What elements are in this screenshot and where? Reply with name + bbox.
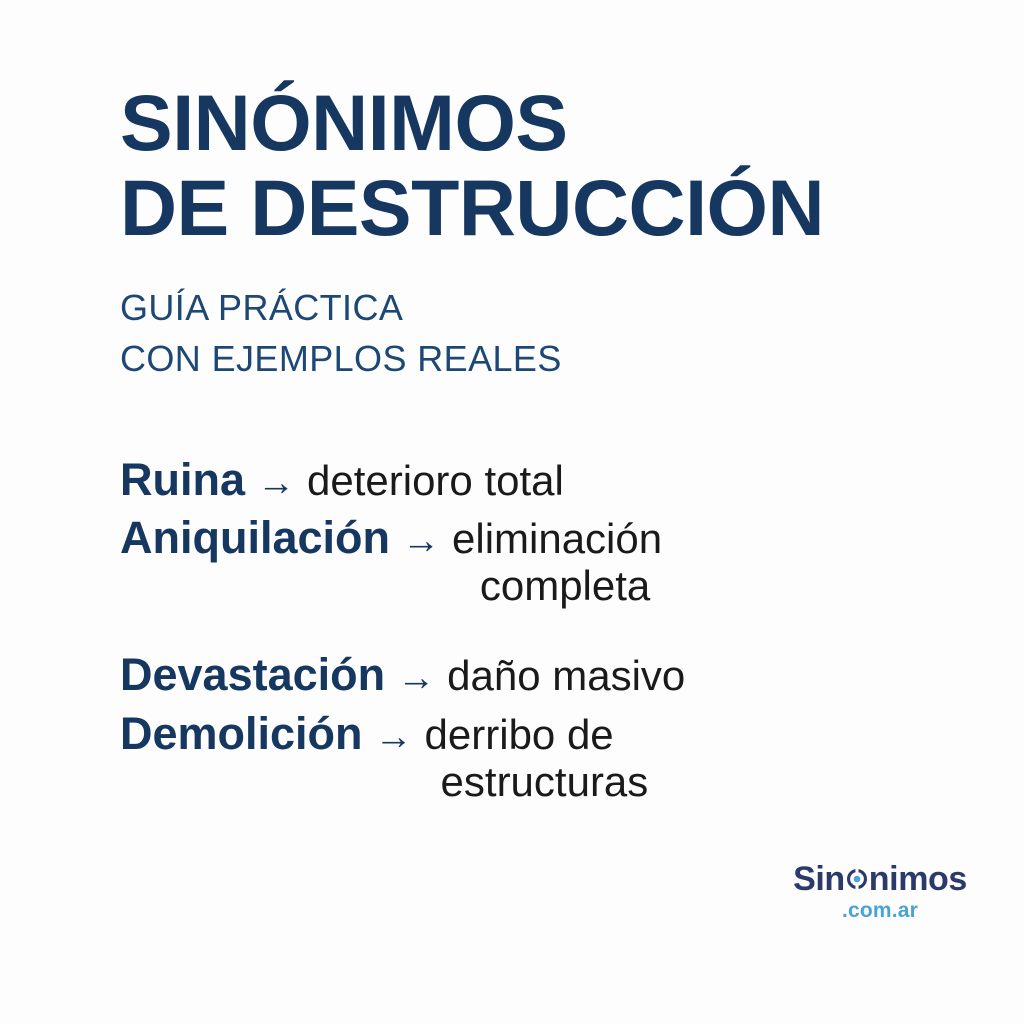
synonym-term: Demolición <box>120 706 363 762</box>
arrow-right-icon: → <box>402 518 440 566</box>
page-subtitle: GUÍA PRÁCTICA CON EJEMPLOS REALES <box>120 282 820 384</box>
list-item: Demolición → derribo de estructuras <box>120 706 1000 805</box>
arrow-right-icon: → <box>375 714 413 762</box>
arrow-right-icon: → <box>257 460 295 508</box>
synonym-definition: derribo de estructuras <box>425 711 649 805</box>
arrow-right-icon: → <box>397 655 435 703</box>
synonym-definition: eliminación completa <box>452 515 662 609</box>
synonym-list: Ruina → deterioro total Aniquilación → e… <box>120 452 1000 807</box>
definition-line-1: eliminación <box>452 515 662 562</box>
title-line-1: SINÓNIMOS <box>120 84 980 161</box>
synonym-definition: daño masivo <box>447 652 685 699</box>
synonym-group-2: Devastación → daño masivo Demolición → d… <box>120 647 1000 804</box>
subtitle-line-2: CON EJEMPLOS REALES <box>120 333 820 384</box>
synonym-group-1: Ruina → deterioro total Aniquilación → e… <box>120 452 1000 609</box>
site-logo[interactable]: Sin nimos .com.ar <box>790 862 970 921</box>
logo-tld: .com.ar <box>790 900 970 921</box>
subtitle-line-1: GUÍA PRÁCTICA <box>120 282 820 333</box>
definition-line-2: completa <box>452 562 662 609</box>
list-item: Devastación → daño masivo <box>120 647 1000 703</box>
logo-wordmark: Sin nimos <box>793 862 967 896</box>
synonym-term: Devastación <box>120 647 385 703</box>
page-title: SINÓNIMOS DE DESTRUCCIÓN <box>120 84 980 247</box>
definition-line-1: derribo de <box>425 711 649 758</box>
list-item: Ruina → deterioro total <box>120 452 1000 508</box>
synonym-term: Ruina <box>120 452 245 508</box>
title-line-2: DE DESTRUCCIÓN <box>120 169 980 246</box>
definition-line-2: estructuras <box>425 758 649 805</box>
poster-canvas: SINÓNIMOS DE DESTRUCCIÓN GUÍA PRÁCTICA C… <box>0 0 1024 1024</box>
synonym-term: Aniquilación <box>120 510 390 566</box>
circular-arrows-icon <box>846 868 868 890</box>
list-item: Aniquilación → eliminación completa <box>120 510 1000 609</box>
logo-text-after-o: nimos <box>869 862 967 896</box>
synonym-definition: deterioro total <box>307 457 564 504</box>
logo-text-before-o: Sin <box>793 862 845 896</box>
